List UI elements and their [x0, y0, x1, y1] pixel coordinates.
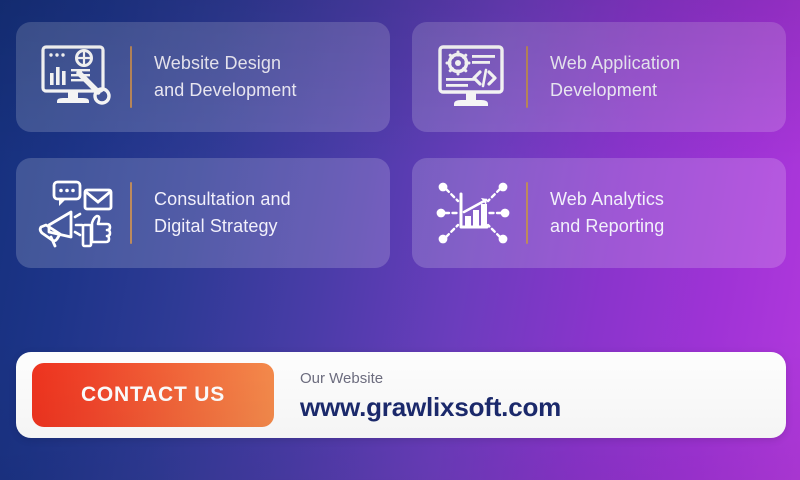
card-divider — [526, 46, 528, 108]
card-divider — [130, 46, 132, 108]
footer-bar: CONTACT US Our Website www.grawlixsoft.c… — [16, 352, 786, 438]
service-card-label: Website Design and Development — [154, 50, 297, 104]
website-block: Our Website www.grawlixsoft.com — [300, 369, 561, 422]
service-card-label: Web Analytics and Reporting — [550, 186, 664, 240]
card-divider — [130, 182, 132, 244]
monitor-gear-code-icon — [430, 38, 516, 116]
contact-us-button[interactable]: CONTACT US — [32, 363, 274, 427]
website-caption: Our Website — [300, 369, 561, 389]
megaphone-chat-mail-thumbsup-icon — [34, 174, 120, 252]
service-card-web-application[interactable]: Web Application Development — [412, 22, 786, 132]
services-card-grid: Website Design and Development — [16, 22, 786, 268]
card-divider — [526, 182, 528, 244]
service-card-label: Web Application Development — [550, 50, 680, 104]
service-card-web-analytics[interactable]: Web Analytics and Reporting — [412, 158, 786, 268]
bar-chart-network-nodes-icon — [430, 174, 516, 252]
service-card-website-design[interactable]: Website Design and Development — [16, 22, 390, 132]
service-card-consultation[interactable]: Consultation and Digital Strategy — [16, 158, 390, 268]
website-url[interactable]: www.grawlixsoft.com — [300, 392, 561, 422]
monitor-wrench-chart-icon — [34, 38, 120, 116]
promo-banner: Website Design and Development — [0, 0, 800, 480]
service-card-label: Consultation and Digital Strategy — [154, 186, 291, 240]
